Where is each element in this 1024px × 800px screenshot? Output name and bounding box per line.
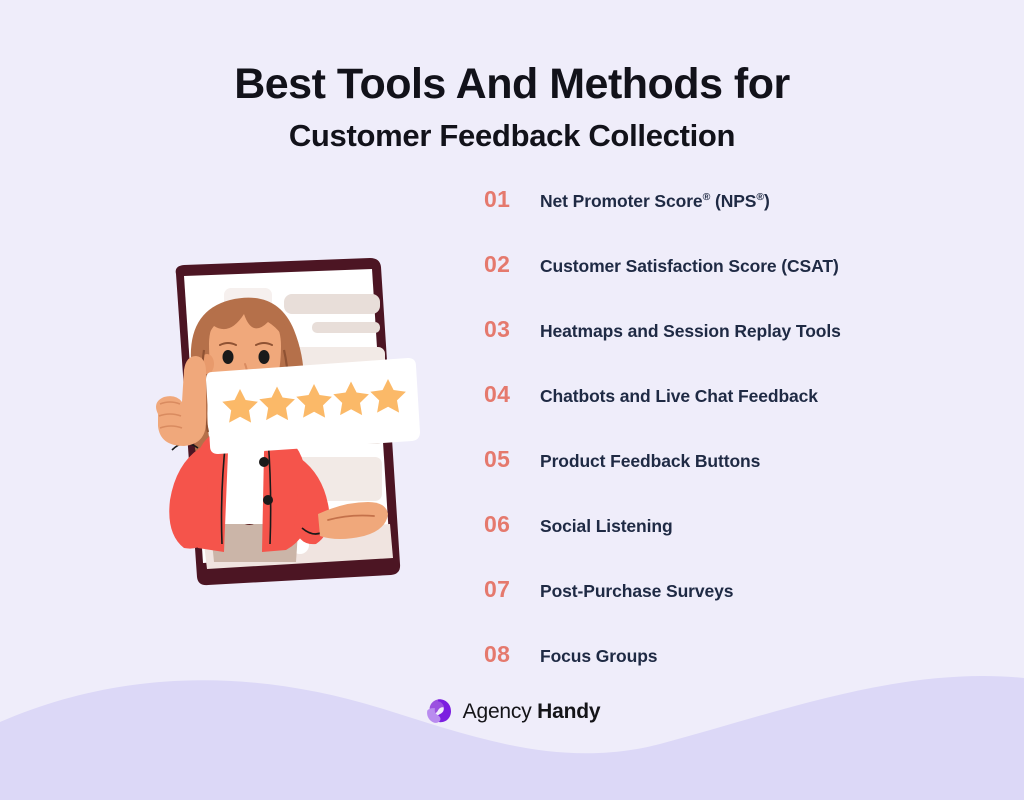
list-item-number: 01 — [484, 186, 540, 213]
title-line-secondary: Customer Feedback Collection — [0, 117, 1024, 154]
jacket-button-bottom — [263, 495, 273, 505]
screen-placeholder-bar-2 — [312, 322, 380, 333]
list-item-label: Post-Purchase Surveys — [540, 581, 733, 602]
logo-text-agency: Agency — [463, 700, 532, 723]
logo-text-handy: Handy — [537, 700, 600, 723]
list-item-label: Focus Groups — [540, 646, 657, 667]
list-item-number: 04 — [484, 381, 540, 408]
list-item[interactable]: 05 Product Feedback Buttons — [484, 446, 924, 511]
brand-logo[interactable]: Agency Handy — [0, 697, 1024, 727]
list-item[interactable]: 01 Net Promoter Score® (NPS®) — [484, 186, 924, 251]
agency-handy-logo-icon — [424, 697, 454, 727]
eye-right — [259, 350, 270, 364]
page-title: Best Tools And Methods for Customer Feed… — [0, 60, 1024, 155]
list-item-label: Social Listening — [540, 516, 673, 537]
five-star-rating-card — [206, 358, 420, 454]
thumbs-up-hand — [156, 356, 206, 446]
list-item[interactable]: 04 Chatbots and Live Chat Feedback — [484, 381, 924, 446]
screen-placeholder-bar-1 — [284, 294, 380, 314]
title-line-primary: Best Tools And Methods for — [0, 60, 1024, 109]
list-item-label: Customer Satisfaction Score (CSAT) — [540, 256, 839, 277]
hand-fist — [156, 356, 206, 446]
list-item-label: Chatbots and Live Chat Feedback — [540, 386, 818, 407]
list-item[interactable]: 02 Customer Satisfaction Score (CSAT) — [484, 251, 924, 316]
list-item-label: Product Feedback Buttons — [540, 451, 760, 472]
list-item[interactable]: 07 Post-Purchase Surveys — [484, 576, 924, 641]
jacket-button-top — [259, 457, 269, 467]
methods-list: 01 Net Promoter Score® (NPS®) 02 Custome… — [484, 186, 924, 706]
list-item-number: 06 — [484, 511, 540, 538]
illustration-woman-five-star-review — [72, 252, 422, 602]
list-item-number: 03 — [484, 316, 540, 343]
list-item-number: 08 — [484, 641, 540, 668]
list-item-number: 05 — [484, 446, 540, 473]
list-item[interactable]: 06 Social Listening — [484, 511, 924, 576]
list-item-label: Net Promoter Score® (NPS®) — [540, 191, 770, 212]
list-item-number: 07 — [484, 576, 540, 603]
logo-wordmark: Agency Handy — [463, 700, 601, 724]
arm-left-sleeve — [169, 448, 212, 549]
list-item-label: Heatmaps and Session Replay Tools — [540, 321, 841, 342]
list-item[interactable]: 03 Heatmaps and Session Replay Tools — [484, 316, 924, 381]
eye-left — [223, 350, 234, 364]
list-item-number: 02 — [484, 251, 540, 278]
